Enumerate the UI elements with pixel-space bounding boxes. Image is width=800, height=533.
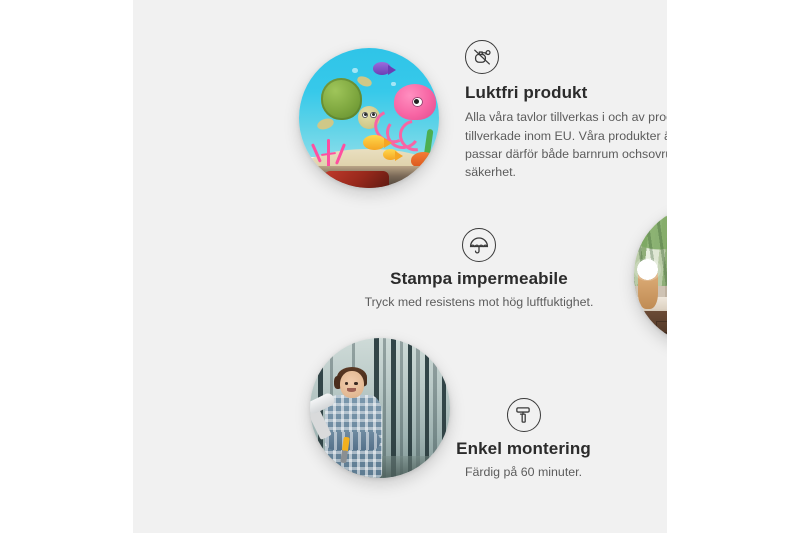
turtle-shell xyxy=(321,78,362,119)
octopus-eye xyxy=(412,97,423,108)
feature-image-waterproof xyxy=(634,205,667,345)
underwater-scene xyxy=(299,48,439,188)
fish-illustration xyxy=(373,62,391,75)
coral-illustration xyxy=(310,129,352,168)
product-feature-banner: Luktfri produkt Alla våra tavlor tillver… xyxy=(0,0,800,533)
smile xyxy=(347,388,356,391)
painter-person xyxy=(321,369,408,478)
feature-image-odourless xyxy=(299,48,439,188)
bathroom-scene xyxy=(634,205,667,345)
feature-block-odourless: Luktfri produkt Alla våra tavlor tillver… xyxy=(465,40,667,182)
flower-bouquet xyxy=(634,258,661,280)
feature-title: Luktfri produkt xyxy=(465,82,667,103)
feature-description: Tryck med resistens mot hög luftfuktighe… xyxy=(348,293,610,311)
vanity-cabinet xyxy=(642,311,667,345)
content-panel: Luktfri produkt Alla våra tavlor tillver… xyxy=(133,0,667,533)
fish-illustration xyxy=(383,149,398,160)
feature-block-waterproof: Stampa impermeabile Tryck med resistens … xyxy=(348,228,610,312)
octopus-head xyxy=(394,84,436,120)
folded-arms xyxy=(326,432,380,449)
no-fragrance-icon xyxy=(465,40,499,74)
bubble-icon xyxy=(352,68,358,74)
eye xyxy=(354,382,357,385)
feature-block-assembly: Enkel montering Färdig på 60 minuter. xyxy=(421,398,626,482)
umbrella-icon xyxy=(462,228,496,262)
cabinet-drawer xyxy=(656,321,667,333)
feature-title: Enkel montering xyxy=(421,438,626,459)
eye xyxy=(345,382,348,385)
feature-description: Alla våra tavlor tillverkas i och av pro… xyxy=(465,108,667,181)
coral-branch xyxy=(335,143,346,164)
face xyxy=(340,371,363,398)
paint-roller-icon xyxy=(507,398,541,432)
feature-description: Färdig på 60 minuter. xyxy=(421,463,626,481)
room-foreground xyxy=(299,166,439,188)
fish-illustration xyxy=(363,135,385,150)
feature-title: Stampa impermeabile xyxy=(348,268,610,289)
turtle-eye xyxy=(362,112,369,119)
